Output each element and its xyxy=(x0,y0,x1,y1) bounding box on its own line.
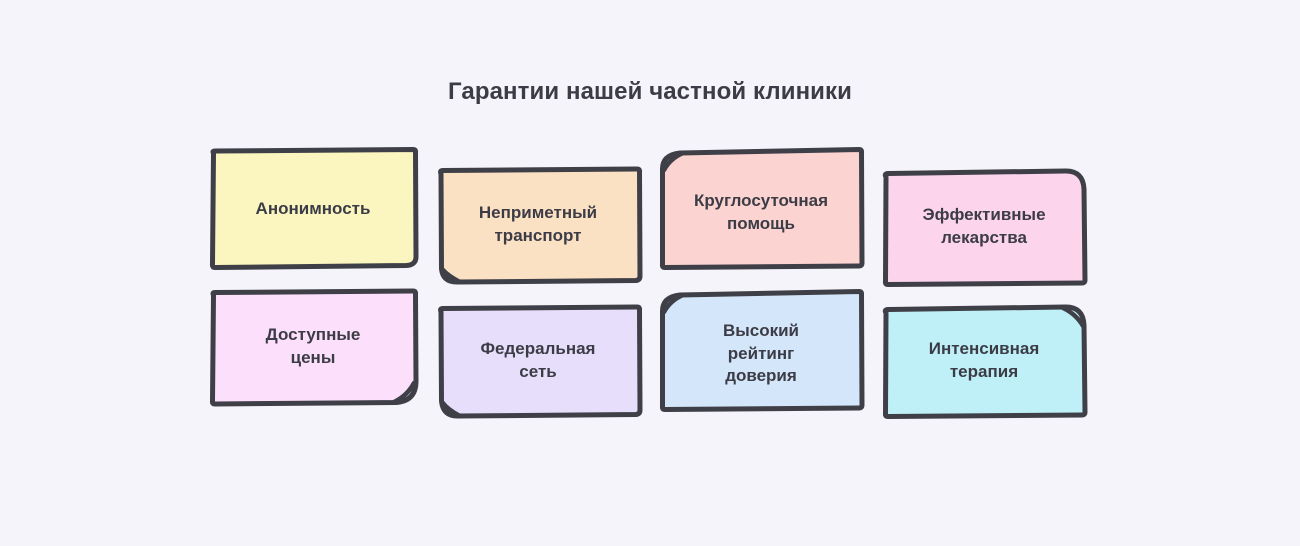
card-fill-federal-network xyxy=(428,296,648,422)
card-fill-high-trust-rating xyxy=(652,284,872,414)
card-fill-discreet-transport xyxy=(428,158,648,288)
card-fill-round-the-clock-help xyxy=(652,142,872,272)
card-fill-anonymity xyxy=(202,138,422,274)
card-affordable-prices[interactable]: Доступные цены xyxy=(208,288,418,406)
card-federal-network[interactable]: Федеральная сеть xyxy=(434,304,642,418)
card-discreet-transport[interactable]: Неприметный транспорт xyxy=(434,166,642,284)
cards-grid: Анонимность xyxy=(0,0,1300,546)
card-fill-intensive-therapy xyxy=(874,298,1094,422)
infographic-root: Гарантии нашей частной клиники xyxy=(0,0,1300,546)
card-intensive-therapy[interactable]: Интенсивная терапия xyxy=(880,304,1088,418)
card-fill-effective-medicines xyxy=(874,162,1094,290)
card-effective-medicines[interactable]: Эффективные лекарства xyxy=(880,168,1088,286)
card-round-the-clock-help[interactable]: Круглосуточная помощь xyxy=(658,146,864,268)
card-high-trust-rating[interactable]: Высокий рейтинг доверия xyxy=(658,288,864,410)
card-anonymity[interactable]: Анонимность xyxy=(208,146,418,270)
card-fill-affordable-prices xyxy=(202,280,422,410)
